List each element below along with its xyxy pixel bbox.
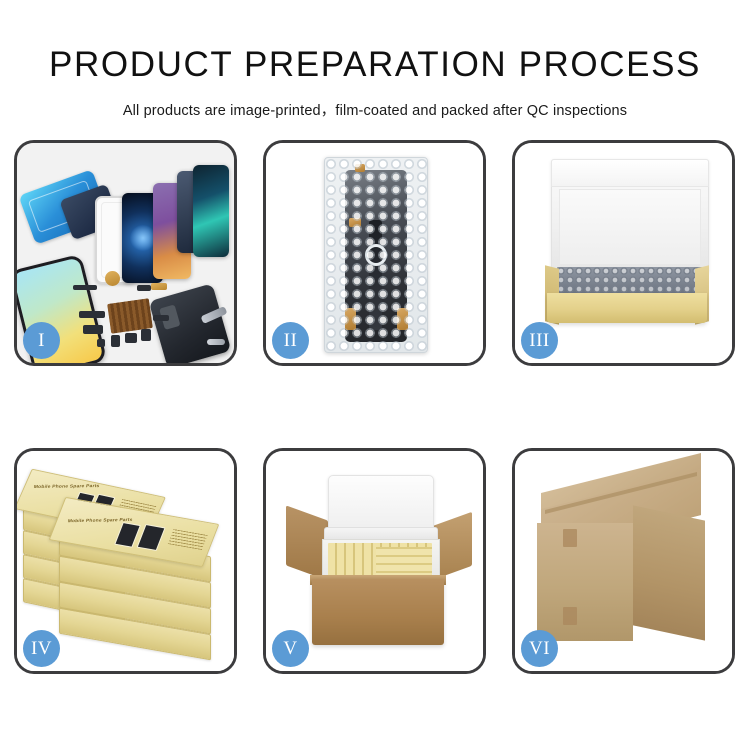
gold-connector — [151, 283, 167, 290]
tape-tab-lower-left — [345, 308, 356, 330]
step-badge-i: I — [23, 322, 60, 359]
step-card-i[interactable]: I — [14, 140, 237, 366]
small-part-1 — [111, 335, 120, 347]
foam-sheet — [559, 189, 701, 265]
step-badge-v: V — [272, 630, 309, 667]
step-badge-vi: VI — [521, 630, 558, 667]
step-card-vi[interactable]: VI — [512, 448, 735, 674]
box-label-back: Mobile Phone Spare Parts — [33, 483, 99, 489]
process-row-top: I — [14, 140, 736, 366]
flex-cable-1 — [79, 311, 105, 318]
step-badge-iv: IV — [23, 630, 60, 667]
bubble-wrapped-contents — [557, 267, 703, 293]
step-badge-iii: III — [521, 322, 558, 359]
carton-tape-upper — [563, 529, 577, 547]
step-card-iv[interactable]: Mobile Phone Spare Parts Mobile Pho — [14, 448, 237, 674]
flex-cable-2 — [83, 325, 103, 334]
step-card-ii[interactable]: II — [263, 140, 486, 366]
box-window-front-2 — [137, 524, 166, 551]
screw-cluster — [97, 339, 105, 347]
page-title: PRODUCT PREPARATION PROCESS — [0, 47, 750, 82]
carton-side-face — [633, 505, 705, 640]
small-chip-1 — [73, 285, 97, 290]
small-part-2 — [125, 333, 137, 343]
header: PRODUCT PREPARATION PROCESS All products… — [0, 0, 750, 120]
product-preparation-infographic: PRODUCT PREPARATION PROCESS All products… — [0, 0, 750, 750]
part-flex-cable — [369, 220, 382, 330]
process-grid: I — [14, 140, 736, 674]
small-chip-2 — [137, 285, 151, 291]
page-subtitle: All products are image-printed，film-coat… — [0, 99, 750, 120]
teal-wave-phone — [193, 165, 229, 257]
step-badge-ii: II — [272, 322, 309, 359]
small-part-4 — [153, 315, 169, 321]
step-card-iii[interactable]: III — [512, 140, 735, 366]
screwdriver-tool — [207, 339, 225, 345]
tape-tab-lower-right — [397, 308, 408, 330]
carton-body — [312, 579, 444, 645]
phone-back-housing — [149, 283, 232, 363]
part-ring-detail — [365, 244, 387, 266]
carton-front-face — [537, 523, 633, 641]
carton-tape-lower — [563, 607, 577, 625]
step-card-v[interactable]: V — [263, 448, 486, 674]
bubble-wrap-bag — [324, 157, 428, 353]
tape-tab-middle — [349, 218, 361, 227]
tape-tab-top — [355, 164, 365, 172]
small-part-3 — [141, 329, 151, 341]
box-front-wall — [547, 293, 707, 323]
speaker-component — [105, 271, 120, 286]
box-lid-top-edge — [551, 159, 709, 187]
process-row-bottom: Mobile Phone Spare Parts Mobile Pho — [14, 448, 736, 674]
box-spec-lines-front — [168, 529, 208, 550]
